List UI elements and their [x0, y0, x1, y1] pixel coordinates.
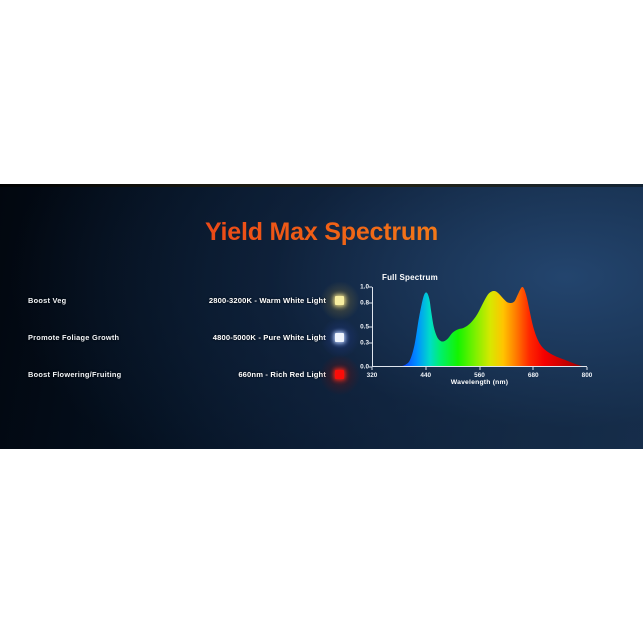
page-root: Yield Max Spectrum Boost Veg 2800-3200K …	[0, 0, 643, 643]
x-tick-label: 320	[367, 372, 378, 379]
y-tick-label: 1.0	[360, 284, 369, 291]
spectrum-banner: Yield Max Spectrum Boost Veg 2800-3200K …	[0, 184, 643, 449]
chart-title: Full Spectrum	[382, 273, 438, 282]
legend-spec-label: 2800-3200K - Warm White Light	[209, 296, 326, 305]
y-tick-mark	[369, 287, 372, 288]
x-tick-mark	[479, 367, 480, 370]
x-tick-label: 560	[474, 372, 485, 379]
rich-red-swatch-wrap	[333, 368, 346, 381]
spectrum-curve	[372, 287, 587, 367]
x-tick-label: 800	[582, 372, 593, 379]
legend-benefit-label: Boost Veg	[28, 296, 66, 305]
full-spectrum-chart: Full Spectrum	[347, 275, 605, 395]
y-tick-mark	[369, 303, 372, 304]
spectrum-legend-list: Boost Veg 2800-3200K - Warm White Light …	[28, 282, 346, 393]
y-tick-label: 0.8	[360, 300, 369, 307]
x-tick-mark	[425, 367, 426, 370]
y-tick-label: 0.5	[360, 324, 369, 331]
legend-benefit-label: Boost Flowering/Fruiting	[28, 370, 121, 379]
pure-white-swatch-wrap	[333, 331, 346, 344]
pure-white-swatch	[335, 333, 344, 342]
y-tick-label: 0.3	[360, 340, 369, 347]
list-item: Boost Veg 2800-3200K - Warm White Light	[28, 282, 346, 319]
x-tick-mark	[533, 367, 534, 370]
legend-spec-label: 4800-5000K - Pure White Light	[213, 333, 326, 342]
x-tick-mark	[587, 367, 588, 370]
x-axis-label: Wavelength (nm)	[372, 379, 587, 386]
rich-red-swatch	[335, 370, 344, 379]
x-tick-label: 680	[528, 372, 539, 379]
x-tick-label: 440	[420, 372, 431, 379]
warm-white-swatch	[335, 296, 344, 305]
page-title: Yield Max Spectrum	[0, 218, 643, 247]
y-tick-mark	[369, 327, 372, 328]
chart-plot-area: 1.0 0.8 0.5 0.3 0.0 320 440 560 680 8	[372, 287, 587, 367]
legend-benefit-label: Promote Foliage Growth	[28, 333, 119, 342]
y-tick-mark	[369, 343, 372, 344]
legend-spec-label: 660nm - Rich Red Light	[238, 370, 326, 379]
y-axis-line	[372, 287, 373, 367]
warm-white-swatch-wrap	[333, 294, 346, 307]
y-tick-label: 0.0	[360, 364, 369, 371]
list-item: Promote Foliage Growth 4800-5000K - Pure…	[28, 319, 346, 356]
x-tick-mark	[372, 367, 373, 370]
list-item: Boost Flowering/Fruiting 660nm - Rich Re…	[28, 356, 346, 393]
